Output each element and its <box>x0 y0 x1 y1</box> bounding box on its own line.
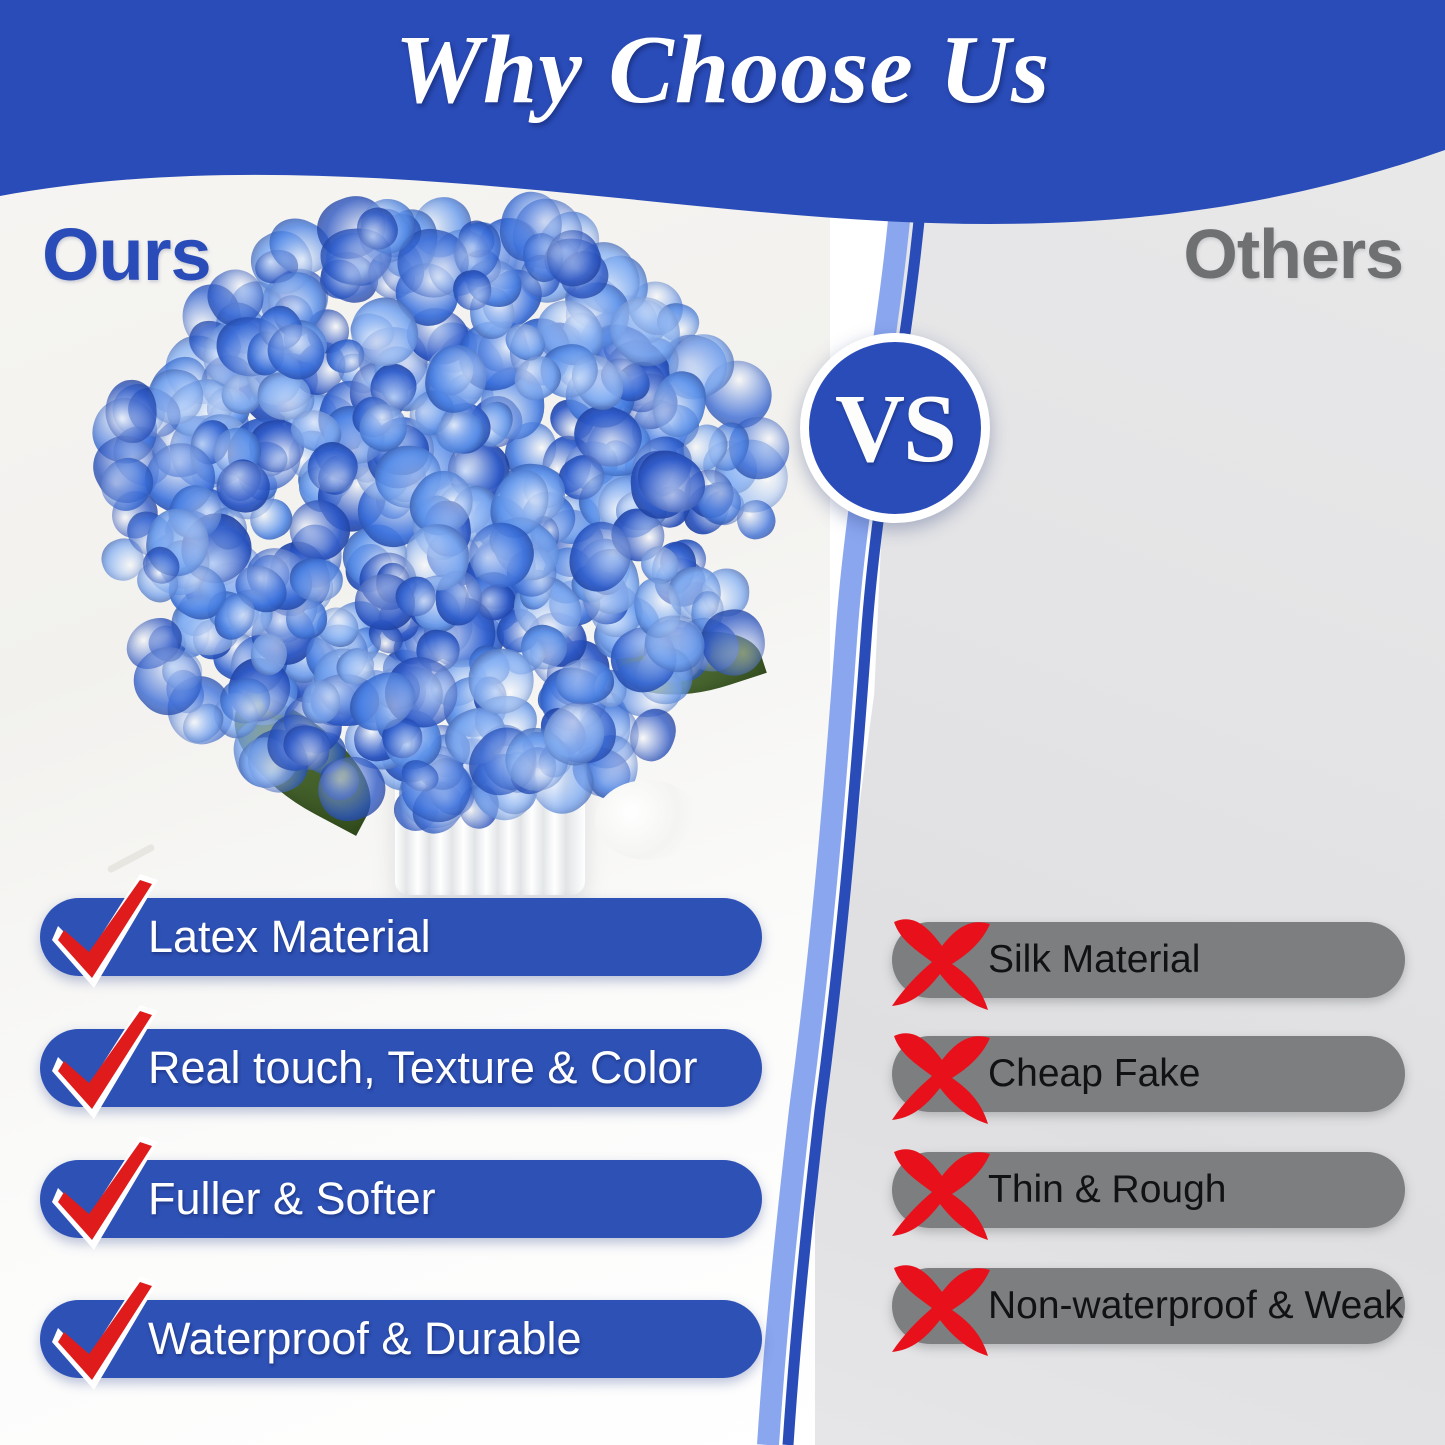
ours-feature-label: Real touch, Texture & Color <box>148 1042 697 1094</box>
red-x-icon <box>886 1136 1004 1246</box>
others-drawback-label: Non-waterproof & Weak <box>988 1284 1403 1328</box>
ours-feature-pill[interactable]: Real touch, Texture & Color <box>40 1029 762 1107</box>
ours-feature-pill[interactable]: Latex Material <box>40 898 762 976</box>
ours-feature-label: Fuller & Softer <box>148 1173 436 1225</box>
red-check-icon <box>36 1272 172 1404</box>
red-x-icon <box>886 1020 1004 1130</box>
red-check-icon <box>36 870 172 1002</box>
red-check-icon <box>36 1132 172 1264</box>
ours-feature-pill[interactable]: Fuller & Softer <box>40 1160 762 1238</box>
others-drawback-label: Thin & Rough <box>988 1168 1226 1212</box>
others-label: Others <box>1183 214 1403 294</box>
ours-feature-label: Latex Material <box>148 911 431 963</box>
vs-badge: VS <box>800 333 990 523</box>
others-drawback-pill[interactable]: Cheap Fake <box>892 1036 1405 1112</box>
vs-badge-label: VS <box>835 380 955 477</box>
others-drawback-pill[interactable]: Thin & Rough <box>892 1152 1405 1228</box>
red-x-icon <box>886 1252 1004 1362</box>
others-drawback-label: Silk Material <box>988 938 1200 982</box>
red-x-icon <box>886 906 1004 1016</box>
small-white-flower <box>595 780 700 860</box>
others-drawback-pill[interactable]: Silk Material <box>892 922 1405 998</box>
page-title: Why Choose Us <box>0 14 1445 126</box>
ours-feature-label: Waterproof & Durable <box>148 1313 582 1365</box>
header-band: Why Choose Us <box>0 0 1445 235</box>
others-drawback-label: Cheap Fake <box>988 1052 1200 1096</box>
others-drawback-pill[interactable]: Non-waterproof & Weak <box>892 1268 1405 1344</box>
ours-label: Ours <box>42 212 211 297</box>
why-choose-us-infographic: Why Choose Us Ours Others VS Latex Mater… <box>0 0 1445 1445</box>
ours-feature-pill[interactable]: Waterproof & Durable <box>40 1300 762 1378</box>
red-check-icon <box>36 1001 172 1133</box>
